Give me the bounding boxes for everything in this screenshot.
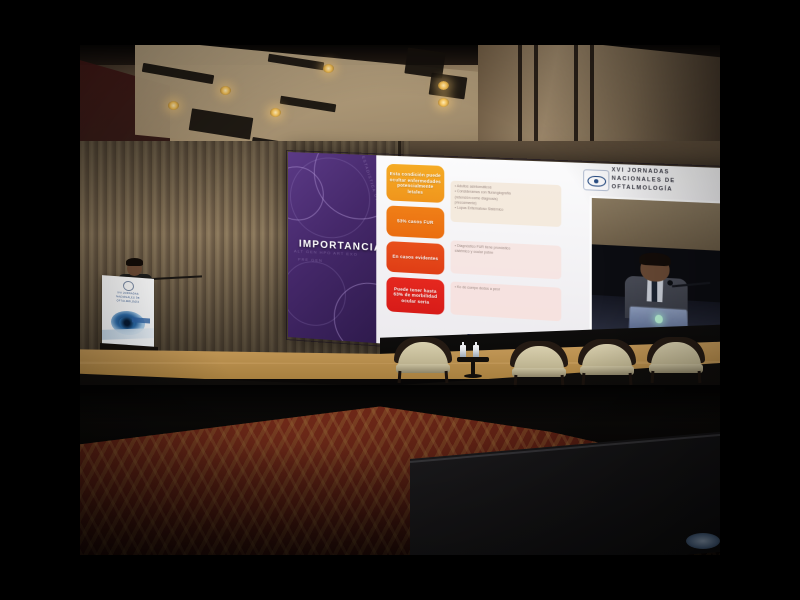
- video-presenter-tie: [652, 280, 658, 302]
- slide-pill-4: Puede tener hasta 63% de morbilidad ocul…: [386, 277, 444, 315]
- apple-icon: [655, 315, 663, 324]
- screen-left-purple-panel: ALT GEN HPO ART EXO PRE GEN ESTADISTICA …: [288, 152, 380, 343]
- stage-chair: [394, 337, 452, 381]
- speaker-hair: [126, 258, 143, 266]
- foreground-reflective-object: [686, 533, 720, 549]
- slide-pill-1: Esta condición puede ocultar enfermedade…: [386, 164, 444, 203]
- slide-header-line: OFTALMOLOGÍA: [612, 184, 676, 195]
- stage-chair: [510, 341, 568, 385]
- side-table: [457, 345, 489, 379]
- slide-pill-3: En casos evidentes: [386, 241, 444, 275]
- slide-bullet: • Ko de cuerpo dedos a peor: [455, 285, 557, 296]
- microphone-head-icon: [667, 280, 673, 286]
- ceiling-downlight: [438, 98, 449, 107]
- banner-wave-graphic: [102, 328, 154, 340]
- ceiling-downlight: [323, 64, 334, 73]
- eye-emblem-icon: [123, 281, 134, 292]
- ceiling-downlight: [270, 108, 281, 117]
- ceiling-downlight: [220, 86, 231, 95]
- stage-chair: [647, 337, 705, 381]
- slide-video-feed: [590, 196, 720, 342]
- slide-header-title: XVI JORNADAS NACIONALES DE OFTALMOLOGÍA: [612, 167, 676, 194]
- slide-pill-2: 53% casos FUR: [386, 205, 444, 238]
- ceiling-downlight: [168, 101, 179, 110]
- stage-chair: [578, 339, 636, 383]
- podium-banner-title: XVI JORNADAS NACIONALES DE OFTALMOLOGÍA: [108, 291, 148, 305]
- conference-photo: ALT GEN HPO ART EXO PRE GEN ESTADISTICA …: [80, 45, 720, 555]
- ceiling-downlight: [438, 81, 449, 90]
- eye-emblem-icon: [583, 169, 609, 191]
- slide-text-block-3: • Ko de cuerpo dedos a peor: [451, 281, 562, 321]
- slide-header: XVI JORNADAS NACIONALES DE OFTALMOLOGÍA: [583, 166, 720, 199]
- slide-text-block-2: • Diagnóstico FUR tiene pronóstico sisté…: [451, 240, 562, 279]
- screenshot-root: ALT GEN HPO ART EXO PRE GEN ESTADISTICA …: [0, 0, 800, 600]
- slide-text-block-1: • Adultos asintomáticos • Consideramos c…: [451, 181, 562, 227]
